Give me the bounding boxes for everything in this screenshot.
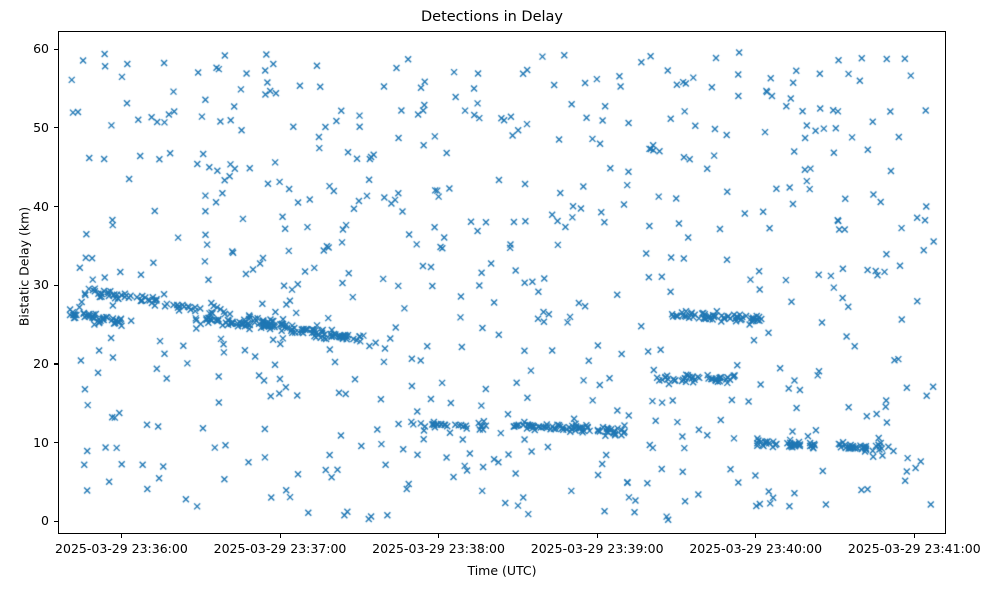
x-tick-label: 2025-03-29 23:39:00 (531, 541, 664, 556)
x-tick-label: 2025-03-29 23:41:00 (848, 541, 981, 556)
y-tick-mark (54, 363, 58, 364)
y-tick-mark (54, 285, 58, 286)
x-tick-mark (914, 534, 915, 538)
y-axis-label: Bistatic Delay (km) (17, 157, 32, 377)
x-tick-mark (597, 534, 598, 538)
plot-area (58, 31, 946, 534)
y-tick-label: 10 (0, 436, 49, 449)
y-tick-mark (54, 521, 58, 522)
x-axis-label: Time (UTC) (58, 563, 946, 578)
chart-title: Detections in Delay (0, 8, 984, 26)
y-tick-mark (54, 442, 58, 443)
x-tick-label: 2025-03-29 23:40:00 (689, 541, 822, 556)
x-tick-mark (755, 534, 756, 538)
y-tick-mark (54, 206, 58, 207)
x-tick-label: 2025-03-29 23:37:00 (214, 541, 347, 556)
y-tick-label: 0 (0, 514, 49, 527)
x-tick-mark (280, 534, 281, 538)
x-tick-mark (121, 534, 122, 538)
x-tick-label: 2025-03-29 23:38:00 (372, 541, 505, 556)
x-tick-mark (438, 534, 439, 538)
y-tick-label: 60 (0, 42, 49, 55)
y-tick-mark (54, 127, 58, 128)
x-tick-label: 2025-03-29 23:36:00 (55, 541, 188, 556)
scatter-plot-canvas (59, 32, 946, 534)
y-tick-mark (54, 49, 58, 50)
y-tick-label: 50 (0, 121, 49, 134)
figure: Detections in Delay 0102030405060 2025-0… (0, 0, 984, 590)
